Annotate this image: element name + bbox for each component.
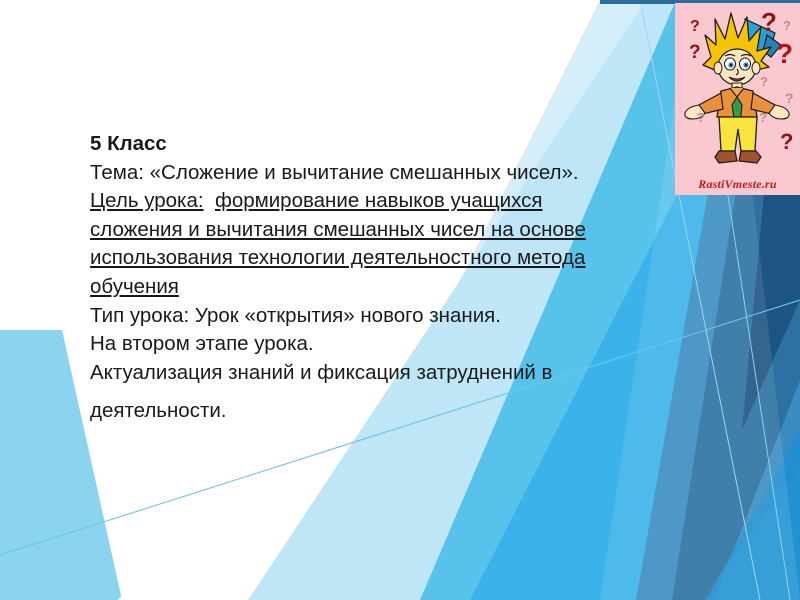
goal-label-underlined: Цель урока: <box>90 189 204 212</box>
pupil-dot-left <box>730 64 732 66</box>
question-mark-icon: ? <box>780 131 793 153</box>
text-line-goal-2: сложения и вычитания смешанных чисел на … <box>90 216 690 245</box>
question-mark-icon: ? <box>783 19 791 32</box>
watermark-text: RastiVmeste.ru <box>675 177 800 192</box>
bg-shape-deep-bottom <box>706 430 800 600</box>
text-line-topic: Тема: «Сложение и вычитание смешанных чи… <box>90 159 690 188</box>
text-line-activity-2: деятельности. <box>90 397 690 426</box>
pupil-dot-right <box>745 64 747 66</box>
ear-right <box>752 62 760 74</box>
ear-left <box>714 62 722 74</box>
text-line-goal-label: Цель урока: формирование навыков учащихс… <box>90 187 690 216</box>
question-mark-icon: ? <box>689 43 701 62</box>
text-line-activity-1: Актуализация знаний и фиксация затруднен… <box>90 359 690 388</box>
yellow-trousers <box>719 117 757 151</box>
goal-part-1: формирование навыков учащихся <box>215 189 543 212</box>
shoe-right <box>739 151 761 163</box>
clipart-image: ? ? ? ? ? ? ? ? ? ? RastiVmeste.ru <box>675 3 800 195</box>
question-mark-icon: ? <box>776 40 793 68</box>
question-mark-icon: ? <box>759 111 767 124</box>
question-mark-icon: ? <box>760 75 768 88</box>
question-mark-icon: ? <box>785 91 794 105</box>
text-line-goal-3: использования технологии деятельностного… <box>90 244 690 273</box>
text-line-stage: На втором этапе урока. <box>90 330 690 359</box>
question-mark-icon: ? <box>697 111 705 124</box>
shoe-left <box>715 151 737 163</box>
goal-gap <box>204 189 215 212</box>
slide-text-body: 5 Класс Тема: «Сложение и вычитание смеш… <box>90 130 690 426</box>
question-mark-icon: ? <box>761 9 777 35</box>
text-line-goal-4: обучения <box>90 273 690 302</box>
question-mark-icon: ? <box>690 19 700 35</box>
text-line-grade: 5 Класс <box>90 130 690 159</box>
text-line-lesson-type: Тип урока: Урок «открытия» нового знания… <box>90 302 690 331</box>
slide-canvas: ? ? ? ? ? ? ? ? ? ? RastiVmeste.ru 5 Кла… <box>0 0 800 600</box>
